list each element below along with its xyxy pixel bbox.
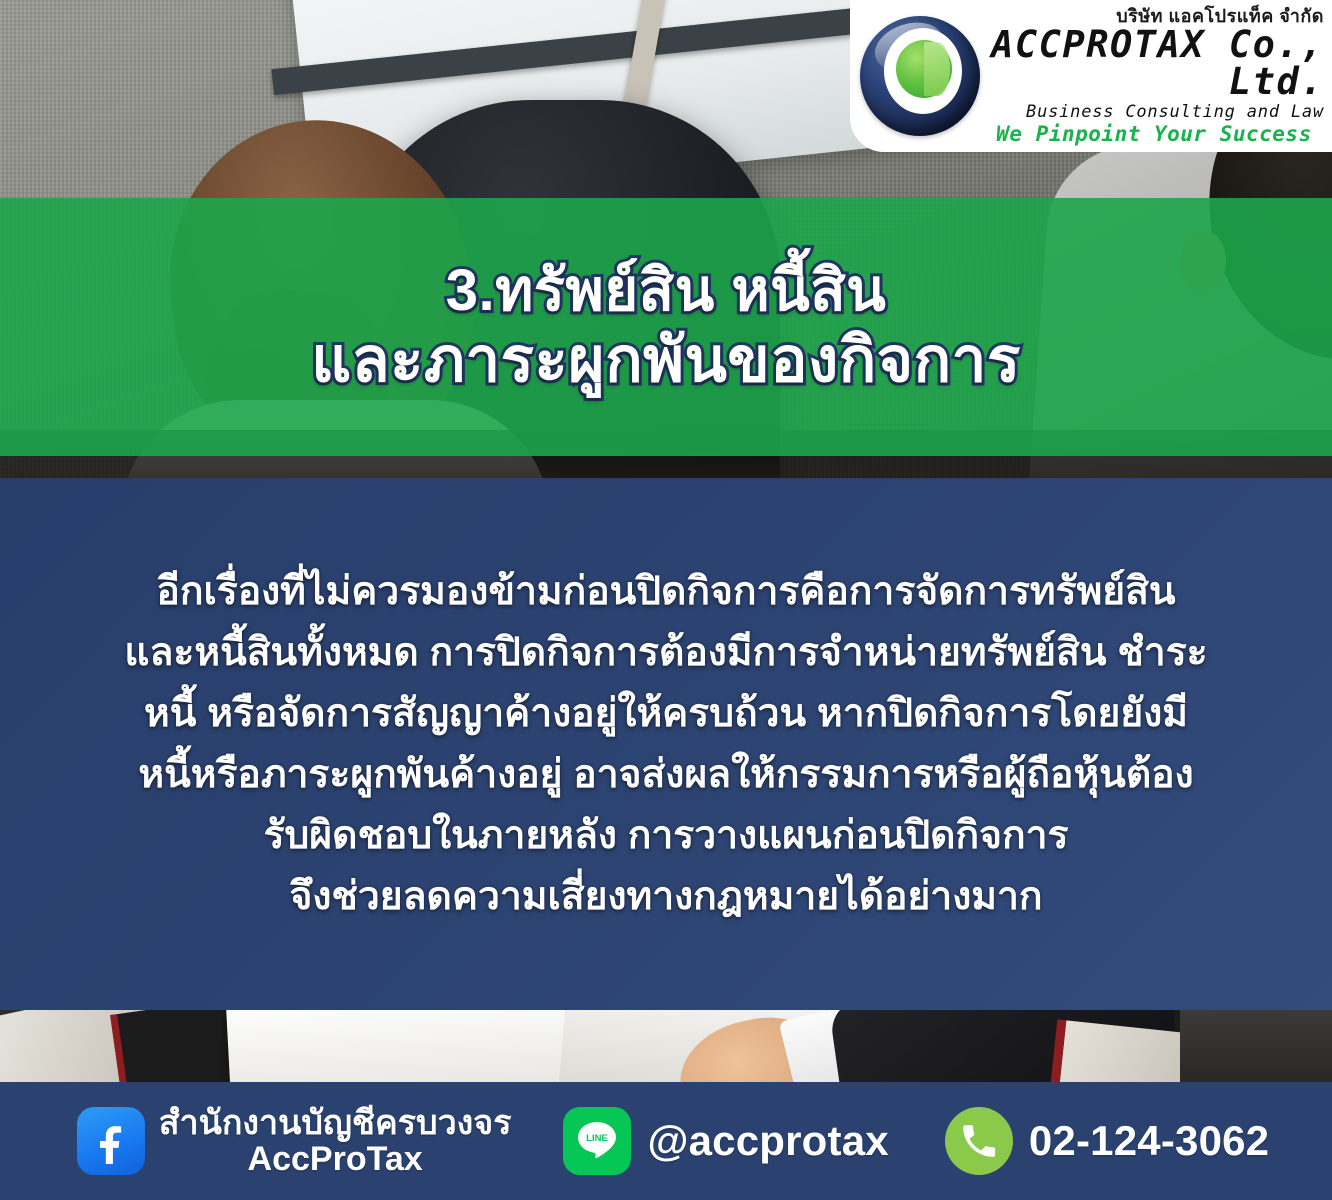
- facebook-label-line-2: AccProTax: [159, 1141, 512, 1177]
- logo-tagline: Business Consulting and Law: [984, 104, 1324, 121]
- company-logo-card: บริษัท แอคโปรแท็ค จำกัด ACCPROTAX Co., L…: [850, 0, 1332, 152]
- logo-slogan: We Pinpoint Your Success: [984, 124, 1324, 145]
- body-line: หนี้หรือภาระผูกพันค้างอยู่ อาจส่งผลให้กร…: [138, 755, 1193, 794]
- facebook-contact[interactable]: สำนักงานบัญชีครบวงจร AccProTax: [77, 1105, 512, 1177]
- banner-title-line-2: และภาระผูกพันของกิจการ: [311, 328, 1021, 394]
- facebook-icon[interactable]: [77, 1107, 145, 1175]
- banner-title-line-1: 3.ทรัพย์สิน หนี้สิน: [446, 260, 887, 321]
- facebook-label-block: สำนักงานบัญชีครบวงจร AccProTax: [159, 1105, 512, 1177]
- phone-number-label: 02-124-3062: [1029, 1117, 1269, 1165]
- infographic-page: 3.ทรัพย์สิน หนี้สิน และภาระผูกพันของกิจก…: [0, 0, 1332, 1200]
- footer-contact-bar: สำนักงานบัญชีครบวงจร AccProTax LINE @acc…: [0, 1082, 1332, 1200]
- body-line: รับผิดชอบในภายหลัง การวางแผนก่อนปิดกิจกา…: [264, 816, 1069, 855]
- line-id-label: @accprotax: [647, 1117, 888, 1165]
- body-line: และหนี้สินทั้งหมด การปิดกิจการต้องมีการจ…: [124, 633, 1207, 672]
- phone-icon[interactable]: [945, 1107, 1013, 1175]
- body-line: จึงช่วยลดความเสี่ยงทางกฎหมายได้อย่างมาก: [290, 877, 1043, 916]
- body-line: หนี้ หรือจัดการสัญญาค้างอยู่ให้ครบถ้วน ห…: [144, 694, 1188, 733]
- line-icon[interactable]: LINE: [563, 1107, 631, 1175]
- title-banner: 3.ทรัพย์สิน หนี้สิน และภาระผูกพันของกิจก…: [0, 198, 1332, 456]
- svg-text:LINE: LINE: [587, 1133, 609, 1144]
- facebook-label-line-1: สำนักงานบัญชีครบวงจร: [159, 1104, 512, 1142]
- body-text-panel: อีกเรื่องที่ไม่ควรมองข้ามก่อนปิดกิจการคื…: [0, 478, 1332, 1010]
- body-line: อีกเรื่องที่ไม่ควรมองข้ามก่อนปิดกิจการคื…: [156, 572, 1175, 611]
- line-contact[interactable]: LINE @accprotax: [563, 1107, 888, 1175]
- phone-contact[interactable]: 02-124-3062: [945, 1107, 1269, 1175]
- circular-globe-logo-icon: [856, 12, 984, 140]
- logo-text-block: บริษัท แอคโปรแท็ค จำกัด ACCPROTAX Co., L…: [984, 7, 1332, 145]
- logo-company-name: ACCPROTAX Co., Ltd.: [984, 26, 1324, 100]
